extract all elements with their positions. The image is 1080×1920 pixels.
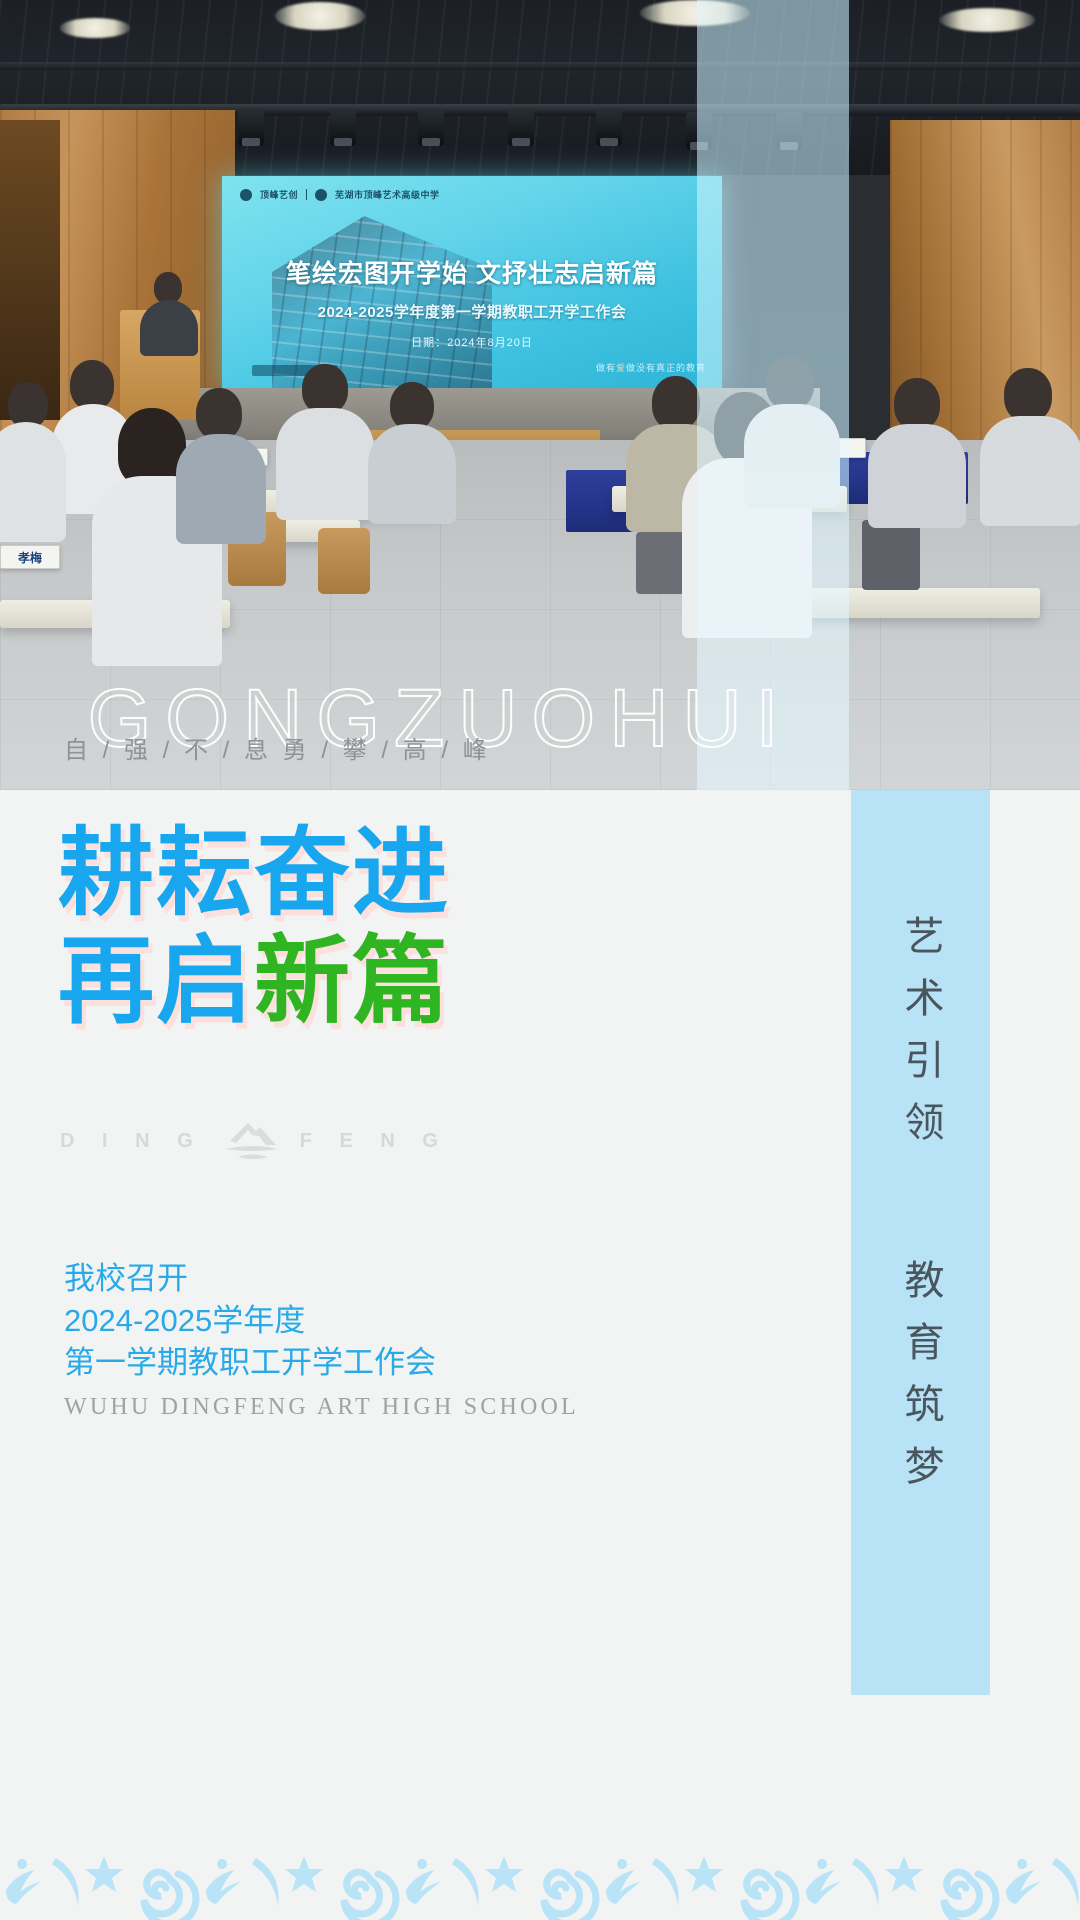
stage-spotlight xyxy=(508,108,534,146)
person-body xyxy=(980,416,1080,526)
info-line-3: 第一学期教职工开学工作会 xyxy=(64,1342,579,1384)
person-head xyxy=(302,364,348,414)
main-content: 艺术引领 教育筑梦 自 / 强 / 不 / 息 勇 / 攀 / 高 / 峰 耕耘… xyxy=(0,790,1080,1920)
person-head xyxy=(1004,368,1052,422)
info-line-2: 2024-2025学年度 xyxy=(64,1300,579,1342)
logo-mark-icon xyxy=(240,189,252,201)
stage-spotlight xyxy=(238,108,264,146)
headline-line-2-green: 新篇 xyxy=(254,928,450,1035)
ornament-svg xyxy=(0,1812,1080,1920)
ceiling-light xyxy=(60,18,130,38)
slogan-highlight: 爱 xyxy=(616,363,626,373)
poster-root: 顶峰艺创 芜湖市顶峰艺术高级中学 笔绘宏图开学始 文抒壮志启新篇 2024-20… xyxy=(0,0,1080,1920)
watermark-right-text: F E N G xyxy=(300,1130,449,1153)
hero-photo-section: 顶峰艺创 芜湖市顶峰艺术高级中学 笔绘宏图开学始 文抒壮志启新篇 2024-20… xyxy=(0,0,1080,790)
wall-dark-panel xyxy=(0,120,60,420)
stage-spotlight xyxy=(330,108,356,146)
person-body xyxy=(176,434,266,544)
stage-spotlight xyxy=(418,108,444,146)
person-body xyxy=(868,424,966,528)
ceiling-light xyxy=(940,8,1035,32)
brand-watermark: D I N G F E N G xyxy=(60,1115,449,1167)
led-screen: 顶峰艺创 芜湖市顶峰艺术高级中学 笔绘宏图开学始 文抒壮志启新篇 2024-20… xyxy=(222,176,722,388)
chair xyxy=(862,520,920,590)
screen-title: 笔绘宏图开学始 文抒壮志启新篇 xyxy=(222,254,722,290)
person-head xyxy=(894,378,940,430)
info-line-1: 我校召开 xyxy=(64,1258,579,1300)
person-head xyxy=(390,382,434,430)
headline-line-2-blue: 再启 xyxy=(58,928,254,1035)
person-head xyxy=(196,388,242,440)
screen-slogan: 做有爱做没有真正的教育 xyxy=(596,361,706,374)
screen-logo-right: 芜湖市顶峰艺术高级中学 xyxy=(335,188,440,201)
headline-line-1: 耕耘奋进 xyxy=(58,820,450,928)
slogan-suffix: 做没有真正的教育 xyxy=(626,363,706,373)
ceiling-light xyxy=(275,2,365,30)
person-body xyxy=(368,424,456,524)
screen-logo-row: 顶峰艺创 芜湖市顶峰艺术高级中学 xyxy=(240,188,440,201)
screen-subtitle: 2024-2025学年度第一学期教职工开学工作会 xyxy=(222,301,722,322)
chair xyxy=(318,528,370,594)
person-head xyxy=(70,360,114,410)
side-panel-text-column: 艺术引领 教育筑梦 xyxy=(851,790,990,1695)
headline-line-2: 再启新篇 xyxy=(58,928,450,1036)
slogan-prefix: 做有 xyxy=(596,363,616,373)
person-body xyxy=(0,422,66,542)
ceiling-truss xyxy=(0,62,1080,70)
headline-block: 耕耘奋进 再启新篇 xyxy=(58,820,450,1035)
bottom-ornament-border xyxy=(0,1812,1080,1920)
screen-logo-left: 顶峰艺创 xyxy=(260,188,298,201)
logo-mark-icon xyxy=(315,189,327,201)
info-block: 我校召开 2024-2025学年度 第一学期教职工开学工作会 WUHU DING… xyxy=(64,1258,579,1421)
stage-spotlight xyxy=(596,108,622,146)
person-body xyxy=(276,408,374,520)
logo-divider xyxy=(306,189,307,200)
mountain-logo-icon xyxy=(222,1115,282,1167)
person-body xyxy=(140,300,198,356)
tagline: 自 / 强 / 不 / 息 勇 / 攀 / 高 / 峰 xyxy=(64,730,491,765)
screen-date: 日期：2024年8月20日 xyxy=(222,334,722,350)
person-head xyxy=(652,376,700,430)
name-card: 孝梅 xyxy=(0,545,60,569)
watermark-left-text: D I N G xyxy=(60,1130,204,1153)
side-panel-phrase-1: 艺术引领 xyxy=(901,915,941,1163)
side-panel-phrase-2: 教育筑梦 xyxy=(901,1259,941,1507)
info-english-subtitle: WUHU DINGFENG ART HIGH SCHOOL xyxy=(64,1394,579,1421)
